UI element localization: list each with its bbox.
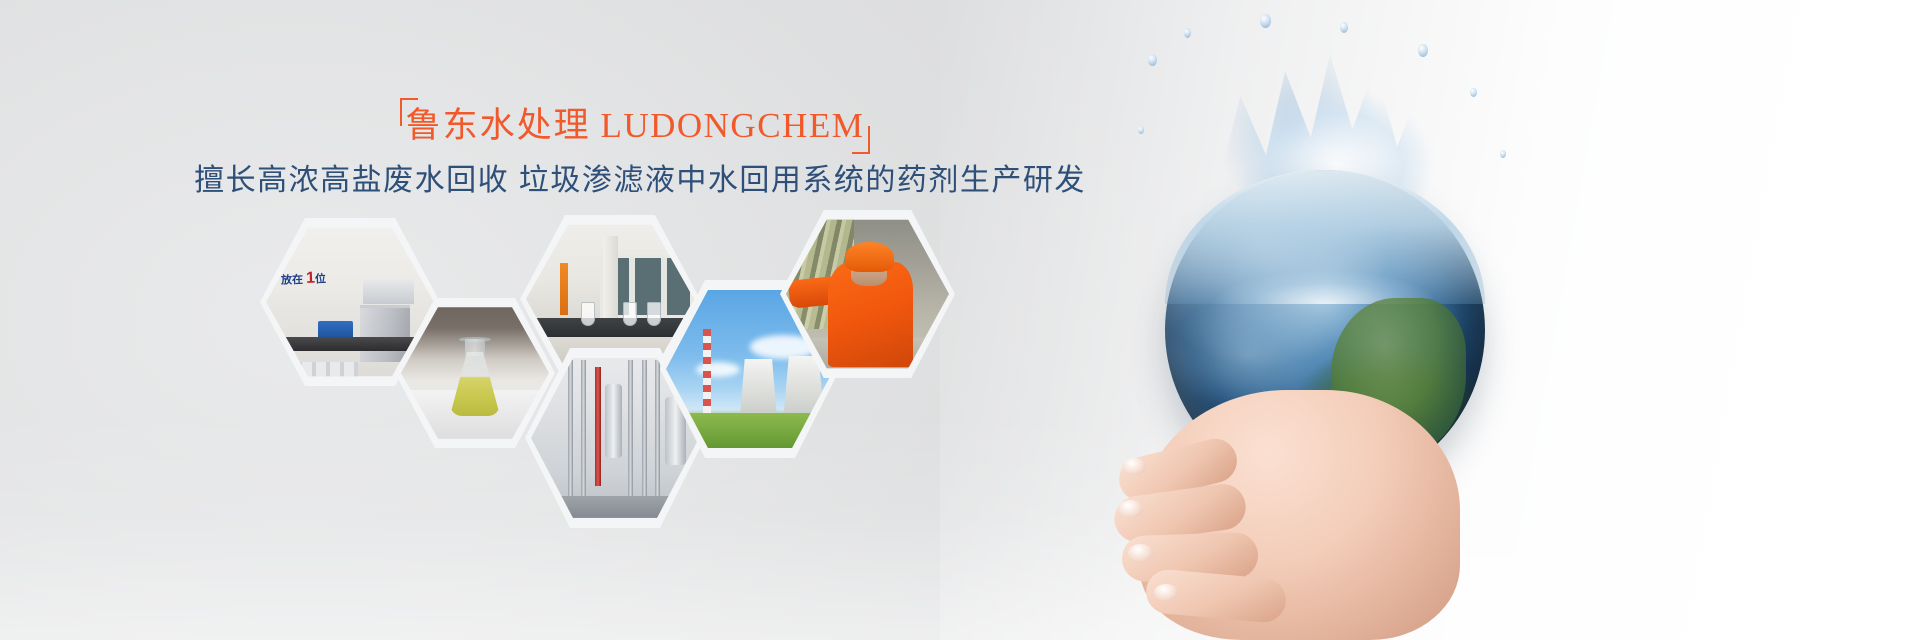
page-subtitle: 擅长高浓高盐废水回收 垃圾渗滤液中水回用系统的药剂生产研发 (180, 160, 1100, 202)
water-globe-in-hands (1060, 0, 1580, 640)
lab-wall-slogan: 放在 1位 (281, 270, 327, 290)
hexagon-photo-cluster: 放在 1位 (230, 218, 950, 538)
headline-english: LUDONGCHEM (600, 106, 864, 145)
hero-banner: 鲁东水处理 LUDONGCHEM 擅长高浓高盐废水回收 垃圾渗滤液中水回用系统的… (0, 0, 1920, 640)
headline-chinese: 鲁东水处理 (406, 106, 591, 145)
hands-holding-globe (1070, 330, 1500, 640)
headline-block: 鲁东水处理 LUDONGCHEM (400, 98, 870, 154)
page-title: 鲁东水处理 LUDONGCHEM (400, 98, 870, 154)
